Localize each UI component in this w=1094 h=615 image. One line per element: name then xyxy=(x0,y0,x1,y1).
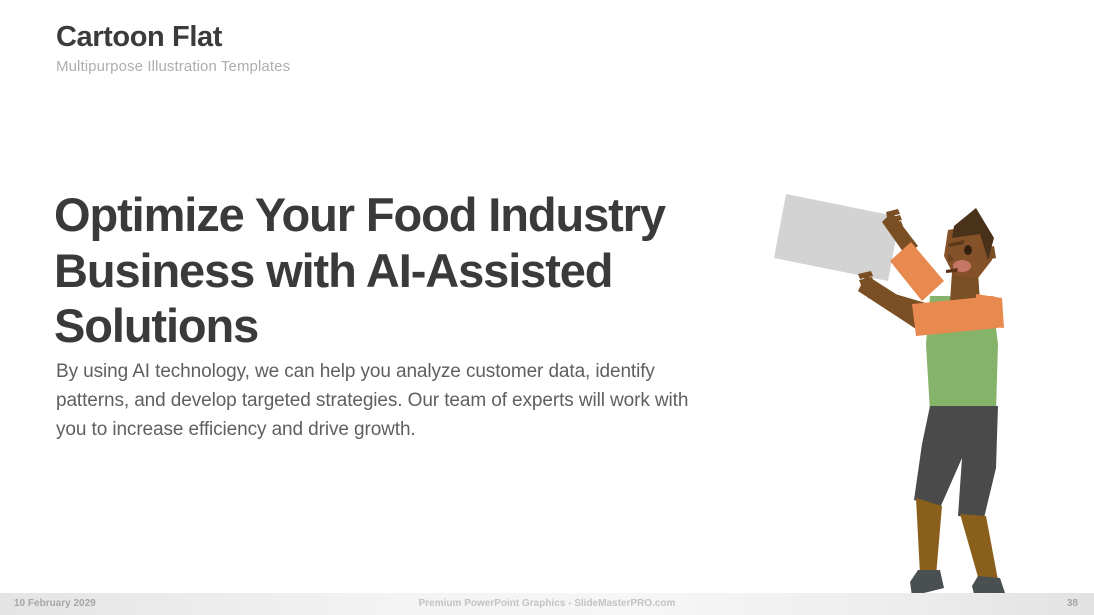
shoulder-sleeve-shape xyxy=(976,294,1004,328)
brand-block: Cartoon Flat Multipurpose Illustration T… xyxy=(56,22,290,75)
footer-credit: Premium PowerPoint Graphics - SlideMaste… xyxy=(0,593,1094,615)
blank-board-shape xyxy=(774,194,900,281)
pants-shape xyxy=(914,406,998,518)
slide-canvas: Cartoon Flat Multipurpose Illustration T… xyxy=(0,0,1094,615)
illustration-person-holding-board xyxy=(740,168,1094,608)
eye-shape xyxy=(964,245,972,255)
upper-sleeve-shape xyxy=(890,242,944,301)
left-lower-leg-shape xyxy=(916,498,942,576)
right-lower-leg-shape xyxy=(960,514,998,584)
brand-subtitle: Multipurpose Illustration Templates xyxy=(56,58,290,75)
footer-page-number: 38 xyxy=(1067,593,1078,615)
footer-bar: 10 February 2029 Premium PowerPoint Grap… xyxy=(0,593,1094,615)
page-title: Optimize Your Food Industry Business wit… xyxy=(54,187,694,353)
brand-title: Cartoon Flat xyxy=(56,22,290,52)
body-paragraph: By using AI technology, we can help you … xyxy=(56,358,716,445)
